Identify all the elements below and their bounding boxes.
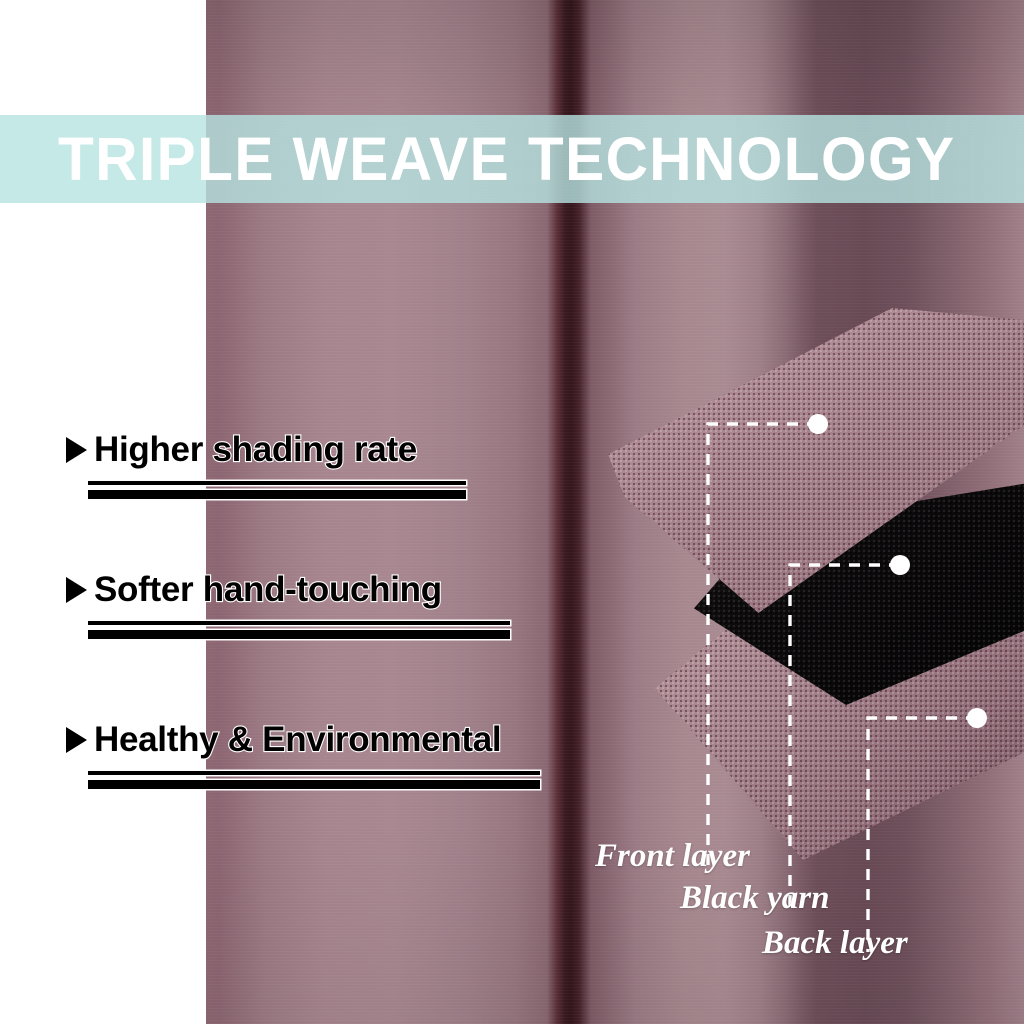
triangle-bullet-icon (66, 727, 87, 753)
feature-label: Softer hand-touching (94, 570, 442, 610)
triangle-bullet-icon (66, 437, 87, 463)
feature-item-higher-shading-rate: Higher shading rate (66, 428, 466, 498)
feature-row: Healthy & Environmental (66, 718, 540, 762)
feature-item-softer-hand-touching: Softer hand-touching (66, 568, 510, 638)
triangle-bullet-icon (66, 577, 87, 603)
feature-item-healthy-environmental: Healthy & Environmental (66, 718, 540, 788)
feature-row: Higher shading rate (66, 428, 466, 472)
feature-label: Healthy & Environmental (94, 720, 501, 760)
layer-label-back-layer: Back layer (762, 925, 908, 962)
rule-thick-bar (88, 780, 540, 789)
rule-thick-bar (88, 490, 466, 499)
feature-row: Softer hand-touching (66, 568, 510, 612)
feature-underline-rule (88, 771, 540, 788)
rule-thin-line (88, 481, 466, 485)
layer-label-black-yarn: Black yarn (680, 880, 829, 917)
rule-thick-bar (88, 630, 510, 639)
feature-underline-rule (88, 481, 466, 498)
fabric-layer-diagram (600, 290, 1024, 850)
rule-thin-line (88, 771, 540, 775)
rule-thin-line (88, 621, 510, 625)
layer-label-front-layer: Front layer (595, 838, 750, 875)
product-infographic: TRIPLE WEAVE TECHNOLOGY Higher shading r… (0, 0, 1024, 1024)
feature-underline-rule (88, 621, 510, 638)
feature-label: Higher shading rate (94, 430, 417, 470)
